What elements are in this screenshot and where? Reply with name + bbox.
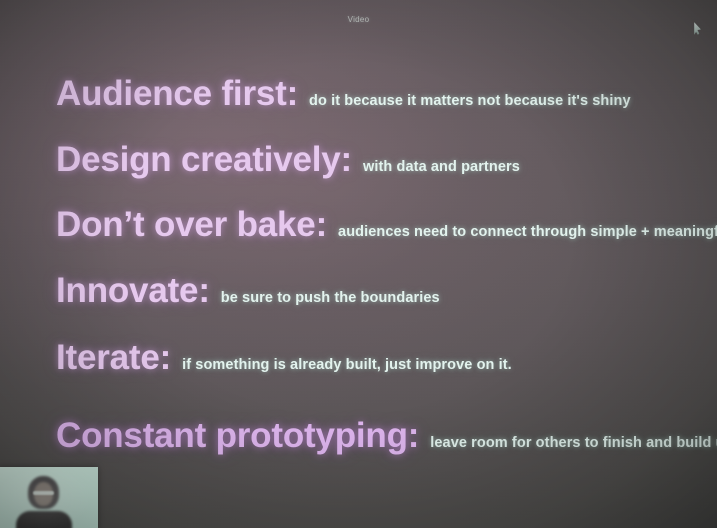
projected-slide-photo: Video Audience first: do it because it m… bbox=[0, 0, 717, 528]
bullet-heading: Innovate: bbox=[56, 271, 210, 311]
bullet-detail: leave room for others to finish and buil… bbox=[430, 435, 717, 451]
slide-bullet-row: Constant prototyping: leave room for oth… bbox=[56, 416, 717, 456]
bullet-heading: Constant prototyping: bbox=[56, 416, 419, 456]
bullet-detail: do it because it matters not because it'… bbox=[309, 93, 631, 109]
bullet-detail: audiences need to connect through simple… bbox=[338, 224, 717, 240]
slide-bullet-row: Audience first: do it because it matters… bbox=[56, 74, 717, 114]
slide-bullet-row: Design creatively: with data and partner… bbox=[56, 140, 717, 180]
slide-bullet-list: Audience first: do it because it matters… bbox=[56, 74, 717, 456]
inset-glare bbox=[0, 467, 98, 528]
bullet-heading: Design creatively: bbox=[56, 140, 352, 180]
bullet-heading: Audience first: bbox=[56, 74, 298, 114]
bullet-detail: with data and partners bbox=[363, 159, 520, 175]
bullet-detail: if something is already built, just impr… bbox=[182, 357, 512, 373]
presenter-webcam-thumbnail[interactable] bbox=[0, 467, 98, 528]
top-bar: Video bbox=[0, 9, 717, 27]
bullet-detail: be sure to push the boundaries bbox=[221, 290, 440, 306]
bullet-heading: Don’t over bake: bbox=[56, 205, 327, 245]
slide-bullet-row: Iterate: if something is already built, … bbox=[56, 338, 717, 378]
slide-bullet-row: Don’t over bake: audiences need to conne… bbox=[56, 205, 717, 245]
video-label: Video bbox=[348, 15, 370, 24]
bullet-heading: Iterate: bbox=[56, 338, 171, 378]
slide-bullet-row: Innovate: be sure to push the boundaries bbox=[56, 271, 717, 311]
